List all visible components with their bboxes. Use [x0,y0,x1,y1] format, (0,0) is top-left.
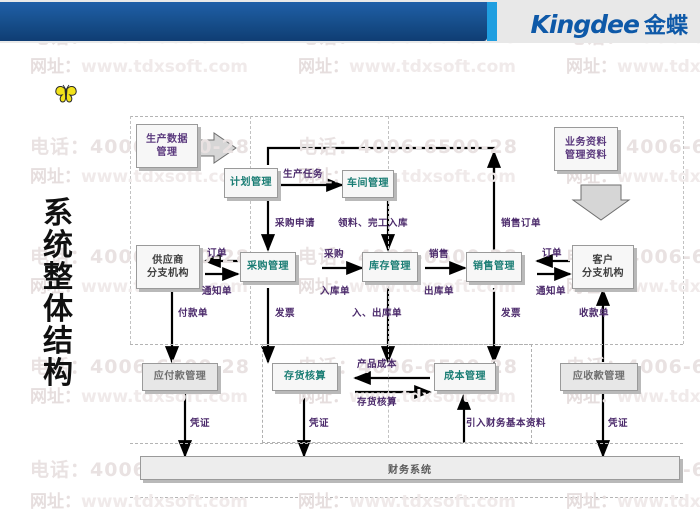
watermark-site-url: www.tdxsoft.com [617,167,700,187]
butterfly-icon [54,84,78,104]
label-order-customer: 订单 [542,245,562,259]
watermark-site: 网址：www.tdxsoft.com [298,162,516,187]
node-workshop-management[interactable]: 车间管理 [342,170,394,198]
kingdee-logo: Kingdee 金蝶 [531,8,688,40]
label-product-cost: 产品成本 [357,356,397,370]
label-voucher-receivable: 凭证 [608,415,628,429]
node-sales-management[interactable]: 销售管理 [466,252,522,282]
label-stock-out: 出库单 [424,283,454,297]
watermark-site-cn: 网址： [30,57,81,77]
node-label: 财务系统 [388,461,432,476]
node-payable-management[interactable]: 应付款管理 [142,363,218,391]
node-label: 计划管理 [230,176,272,189]
node-label: 存货核算 [284,370,326,383]
column-divider-right [683,116,684,344]
node-production-data[interactable]: 生产数据 管理 [136,124,198,168]
node-plan-management[interactable]: 计划管理 [224,168,278,198]
node-label-line1: 供应商 [152,254,184,267]
label-sales-order: 销售订单 [501,215,541,229]
label-payment-voucher: 付款单 [178,305,208,319]
label-stock-in: 入库单 [320,283,350,297]
node-label-line2: 分支机构 [147,267,189,280]
watermark-site-url: www.tdxsoft.com [617,492,700,512]
node-receivable-management[interactable]: 应收款管理 [560,363,638,391]
node-label: 应收款管理 [573,370,626,383]
header-accent-stripe [487,2,497,41]
label-purchase-request: 采购申请 [275,215,315,229]
node-label: 采购管理 [247,260,289,273]
node-stock-accounting[interactable]: 存货核算 [272,363,338,391]
slide-root: 电话：4006-6500-28 电话：4006-6500-28 电话：4006-… [0,0,700,525]
label-receipt-voucher: 收款单 [579,305,609,319]
label-pick-and-finish: 领料、完工入库 [338,215,408,229]
logo-text-en: Kingdee [531,10,639,39]
watermark-site-cn: 网址： [30,167,81,187]
label-notice-customer: 通知单 [536,283,566,297]
watermark-site: 网址：www.tdxsoft.com [298,52,516,77]
label-notice-supplier: 通知单 [202,283,232,297]
label-stock-accounting-flow: 存货核算 [357,394,397,408]
watermark-site-url: www.tdxsoft.com [81,57,248,77]
watermark-site-cn: 网址： [298,57,349,77]
section-divider-bottom [130,443,683,444]
watermark-site-cn: 网址： [30,492,81,512]
watermark-site-cn: 网址： [566,492,617,512]
watermark-site: 网址：www.tdxsoft.com [30,52,248,77]
node-label-line1: 客户 [593,254,614,267]
column-divider-1 [250,116,251,344]
node-business-data[interactable]: 业务资料 管理资料 [554,127,618,171]
column-divider-left [130,116,131,344]
label-invoice-sales: 发票 [501,305,521,319]
node-label: 车间管理 [347,177,389,190]
watermark-site: 网址：www.tdxsoft.com [30,487,248,512]
node-label-line2: 分支机构 [582,267,624,280]
watermark-site-url: www.tdxsoft.com [349,57,516,77]
watermark-site: 网址：www.tdxsoft.com [566,52,700,77]
section-divider-top [130,116,683,117]
label-order-supplier: 订单 [207,245,227,259]
logo-text-cn: 金蝶 [644,8,688,40]
node-label-line2: 管理 [157,146,178,159]
watermark-site-url: www.tdxsoft.com [617,57,700,77]
watermark-site-url: www.tdxsoft.com [81,167,248,187]
node-label: 应付款管理 [154,370,207,383]
node-customer[interactable]: 客户 分支机构 [572,245,634,289]
node-purchase-management[interactable]: 采购管理 [240,252,296,282]
page-title: 系统整体结构 [38,198,78,391]
node-label: 库存管理 [369,260,411,273]
watermark-site-cn: 网址： [566,57,617,77]
label-import-finance-base: 引入财务基本资料 [466,415,546,429]
node-label: 销售管理 [473,260,515,273]
label-purchase-flow: 采购 [324,246,344,260]
watermark-site: 网址：www.tdxsoft.com [566,487,700,512]
label-sales-flow: 销售 [429,246,449,260]
label-production-task: 生产任务 [283,166,323,180]
label-invoice-purchase: 发票 [275,305,295,319]
label-voucher-stock: 凭证 [309,415,329,429]
node-label-line1: 生产数据 [146,133,188,146]
watermark-phone: 电话：4006-6500-28 [298,132,518,159]
node-finance-system[interactable]: 财务系统 [140,456,680,480]
node-label: 成本管理 [444,370,486,383]
section-divider-foot [130,497,683,498]
watermark-site: 网址：www.tdxsoft.com [298,487,516,512]
node-label-line2: 管理资料 [565,149,607,162]
watermark-site-url: www.tdxsoft.com [349,492,516,512]
node-supplier[interactable]: 供应商 分支机构 [136,245,200,289]
node-inventory-management[interactable]: 库存管理 [362,252,418,282]
label-voucher-payable: 凭证 [190,415,210,429]
watermark-site-url: www.tdxsoft.com [81,492,248,512]
label-in-out-stock: 入、出库单 [352,305,402,319]
header-blue-band [0,2,487,41]
node-label-line1: 业务资料 [565,136,607,149]
node-cost-management[interactable]: 成本管理 [434,363,496,391]
watermark-site-cn: 网址： [298,492,349,512]
